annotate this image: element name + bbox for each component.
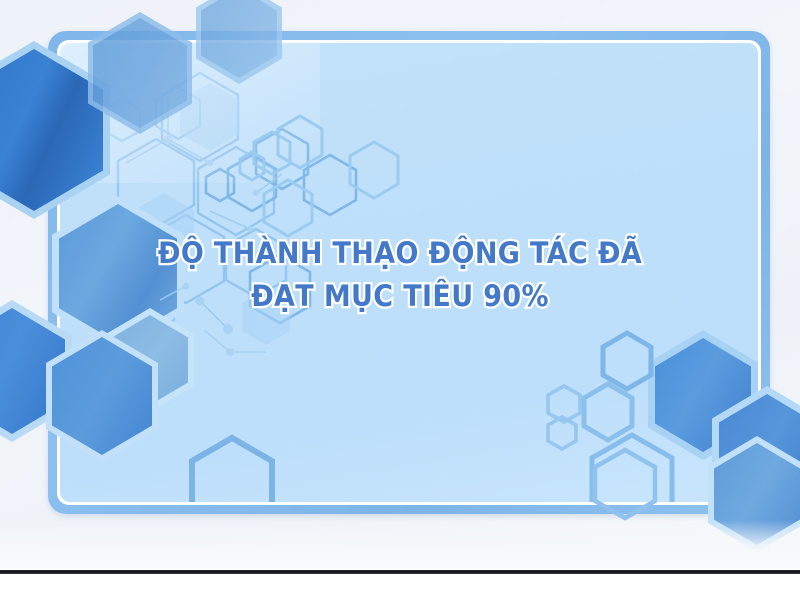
slide-canvas: ĐỘ THÀNH THẠO ĐỘNG TÁC ĐÃ ĐẠT MỤC TIÊU 9… xyxy=(0,0,800,600)
bottom-fade xyxy=(0,520,800,572)
bottom-white-strip xyxy=(0,574,800,600)
slide-background xyxy=(0,0,800,572)
